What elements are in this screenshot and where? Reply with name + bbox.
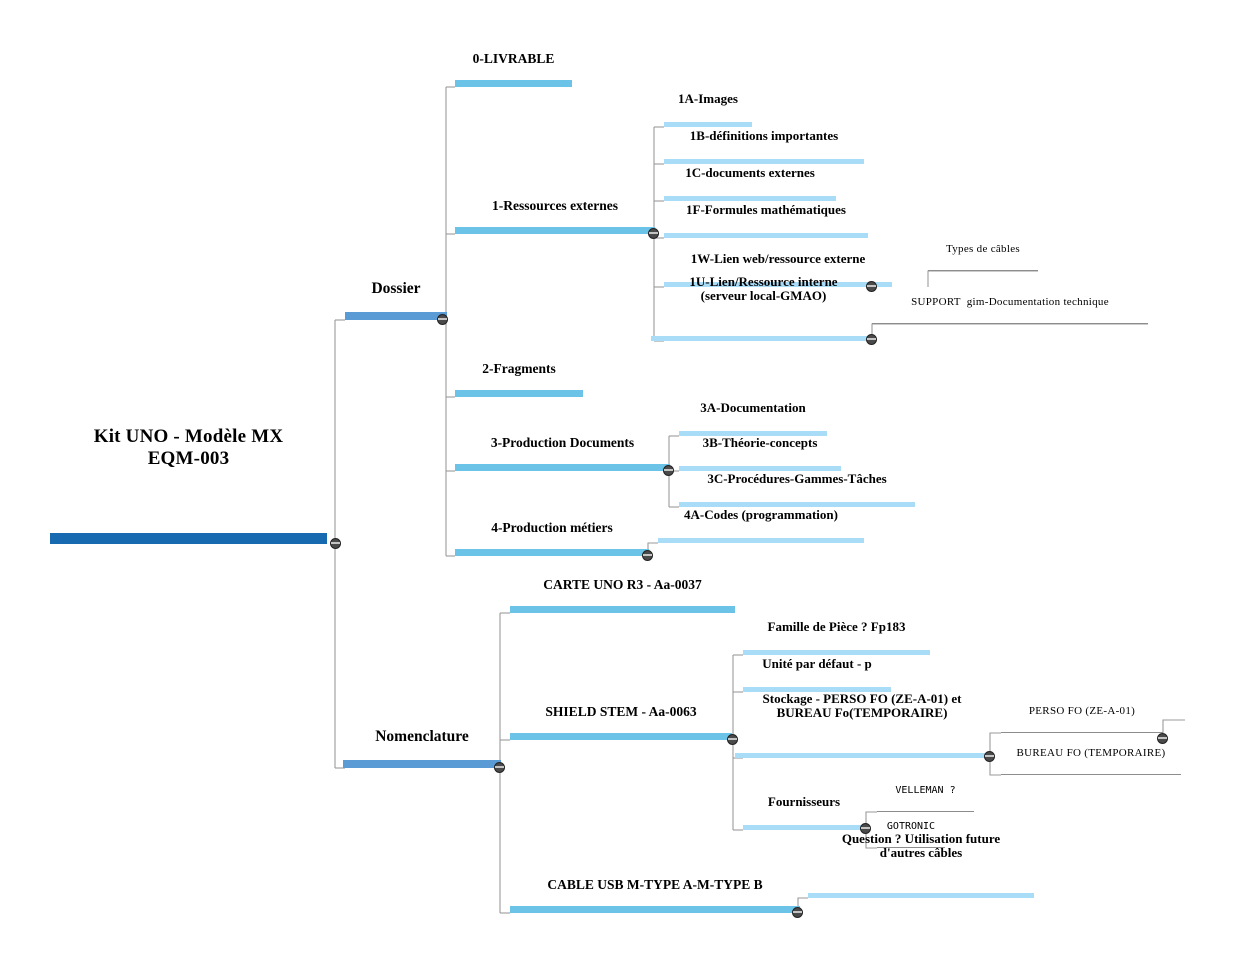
node-velleman[interactable]: VELLEMAN ? [877, 797, 974, 812]
node-3a-documentation[interactable]: 3A-Documentation [679, 417, 827, 436]
node-3b-theorie-bar [679, 466, 841, 471]
node-1a-images[interactable]: 1A-Images [664, 108, 752, 127]
node-1f-formules-label: 1F-Formules mathématiques [664, 203, 868, 219]
node-1f-formules-bar [664, 233, 868, 238]
node-1b-definitions-label: 1B-définitions importantes [664, 129, 864, 145]
node-fragments[interactable]: 2-Fragments [455, 377, 583, 397]
node-cable-usb[interactable]: CABLE USB M-TYPE A-M-TYPE B [510, 893, 800, 913]
root-node[interactable]: Kit UNO - Modèle MXEQM-003 [50, 470, 327, 544]
node-1b-definitions[interactable]: 1B-définitions importantes [664, 145, 864, 164]
node-unite-defaut-label: Unité par défaut - p [743, 657, 891, 673]
node-1b-definitions-bar [664, 159, 864, 164]
node-fragments-bar [455, 390, 583, 397]
branch-nomenclature[interactable]: Nomenclature [343, 746, 501, 768]
node-production-metiers-dot[interactable] [642, 550, 653, 561]
node-stockage-label: Stockage - PERSO FO (ZE-A-01) etBUREAU F… [735, 692, 989, 722]
node-1a-images-bar [664, 122, 752, 127]
node-4a-codes-label: 4A-Codes (programmation) [658, 508, 864, 524]
root-node-label: Kit UNO - Modèle MXEQM-003 [50, 426, 327, 470]
node-cable-usb-bar [510, 906, 800, 913]
branch-dossier-label: Dossier [345, 280, 447, 298]
node-perso-fo[interactable]: PERSO FO (ZE-A-01) [1001, 718, 1163, 733]
node-cable-usb-label: CABLE USB M-TYPE A-M-TYPE B [510, 877, 800, 893]
node-stockage-bar [735, 753, 989, 758]
node-production-metiers-label: 4-Production métiers [455, 520, 649, 536]
node-1f-formules[interactable]: 1F-Formules mathématiques [664, 219, 868, 238]
node-production-metiers[interactable]: 4-Production métiers [455, 536, 649, 556]
node-perso-fo-dot[interactable] [1157, 733, 1168, 744]
node-question-cables-label: Question ? Utilisation futured'autres câ… [808, 832, 1034, 862]
branch-nomenclature-bar [343, 760, 501, 768]
node-shield-stem-bar [510, 733, 732, 740]
node-1u-lien-interne-label: 1U-Lien/Ressource interne(serveur local-… [651, 275, 876, 305]
node-fournisseurs-label: Fournisseurs [743, 795, 865, 811]
node-support-gim-label: SUPPORT gim-Documentation technique [872, 296, 1148, 309]
node-production-metiers-bar [455, 549, 649, 556]
node-production-documents-dot[interactable] [663, 465, 674, 476]
branch-dossier-bar [345, 312, 447, 320]
node-3c-procedures-label: 3C-Procédures-Gammes-Tâches [679, 472, 915, 488]
node-ressources-externes-label: 1-Ressources externes [455, 198, 655, 214]
node-velleman-label: VELLEMAN ? [877, 785, 974, 797]
node-fournisseurs-bar [743, 825, 865, 830]
node-types-de-cables[interactable]: Types de câbles [928, 256, 1038, 271]
node-bureau-fo[interactable]: BUREAU FO (TEMPORAIRE) [1001, 760, 1181, 775]
node-1a-images-label: 1A-Images [664, 92, 752, 108]
node-1w-lien-web-label: 1W-Lien web/ressource externe [664, 252, 892, 268]
node-support-gim-rule [872, 323, 1148, 324]
mindmap-canvas: Kit UNO - Modèle MXEQM-003 Dossier Nomen… [0, 0, 1240, 970]
node-fragments-label: 2-Fragments [455, 361, 583, 377]
node-perso-fo-label: PERSO FO (ZE-A-01) [1001, 705, 1163, 718]
branch-dossier[interactable]: Dossier [345, 298, 447, 320]
node-perso-fo-rule [1001, 732, 1163, 733]
node-unite-defaut[interactable]: Unité par défaut - p [743, 673, 891, 692]
node-3a-documentation-label: 3A-Documentation [679, 401, 827, 417]
node-carte-uno-bar [510, 606, 735, 613]
node-famille-piece-label: Famille de Pièce ? Fp183 [743, 620, 930, 636]
node-types-de-cables-rule [928, 270, 1038, 271]
node-shield-stem[interactable]: SHIELD STEM - Aa-0063 [510, 720, 732, 740]
node-production-documents[interactable]: 3-Production Documents [455, 451, 670, 471]
node-types-de-cables-label: Types de câbles [928, 243, 1038, 256]
node-livrable[interactable]: 0-LIVRABLE [455, 67, 572, 87]
branch-nomenclature-label: Nomenclature [343, 728, 501, 746]
node-stockage-dot[interactable] [984, 751, 995, 762]
node-bureau-fo-label: BUREAU FO (TEMPORAIRE) [1001, 747, 1181, 760]
node-stockage[interactable]: Stockage - PERSO FO (ZE-A-01) etBUREAU F… [735, 722, 989, 758]
node-3b-theorie[interactable]: 3B-Théorie-concepts [679, 452, 841, 471]
node-production-documents-bar [455, 464, 670, 471]
node-support-gim[interactable]: SUPPORT gim-Documentation technique [872, 309, 1148, 324]
node-ressources-externes[interactable]: 1-Ressources externes [455, 214, 655, 234]
node-3c-procedures-bar [679, 502, 915, 507]
node-4a-codes[interactable]: 4A-Codes (programmation) [658, 524, 864, 543]
node-famille-piece[interactable]: Famille de Pièce ? Fp183 [743, 636, 930, 655]
branch-nomenclature-dot[interactable] [494, 762, 505, 773]
node-livrable-bar [455, 80, 572, 87]
node-1u-lien-interne-dot[interactable] [866, 334, 877, 345]
node-cable-usb-dot[interactable] [792, 907, 803, 918]
node-4a-codes-bar [658, 538, 864, 543]
root-node-dot[interactable] [330, 538, 341, 549]
node-bureau-fo-rule [1001, 774, 1181, 775]
node-shield-stem-label: SHIELD STEM - Aa-0063 [510, 704, 732, 720]
node-fournisseurs[interactable]: Fournisseurs [743, 811, 865, 830]
node-carte-uno-label: CARTE UNO R3 - Aa-0037 [510, 577, 735, 593]
node-velleman-rule [877, 811, 974, 812]
node-3b-theorie-label: 3B-Théorie-concepts [679, 436, 841, 452]
node-livrable-label: 0-LIVRABLE [455, 51, 572, 67]
node-production-documents-label: 3-Production Documents [455, 435, 670, 451]
root-node-bar [50, 533, 327, 544]
branch-dossier-dot[interactable] [437, 314, 448, 325]
node-1u-lien-interne-bar [651, 336, 876, 341]
node-1c-documents[interactable]: 1C-documents externes [664, 182, 836, 201]
node-3c-procedures[interactable]: 3C-Procédures-Gammes-Tâches [679, 488, 915, 507]
node-famille-piece-bar [743, 650, 930, 655]
node-1c-documents-bar [664, 196, 836, 201]
node-1u-lien-interne[interactable]: 1U-Lien/Ressource interne(serveur local-… [651, 305, 876, 341]
node-1c-documents-label: 1C-documents externes [664, 166, 836, 182]
node-question-cables-bar [808, 893, 1034, 898]
node-carte-uno[interactable]: CARTE UNO R3 - Aa-0037 [510, 593, 735, 613]
node-question-cables[interactable]: Question ? Utilisation futured'autres câ… [808, 862, 1034, 898]
node-ressources-externes-bar [455, 227, 655, 234]
node-ressources-externes-dot[interactable] [648, 228, 659, 239]
